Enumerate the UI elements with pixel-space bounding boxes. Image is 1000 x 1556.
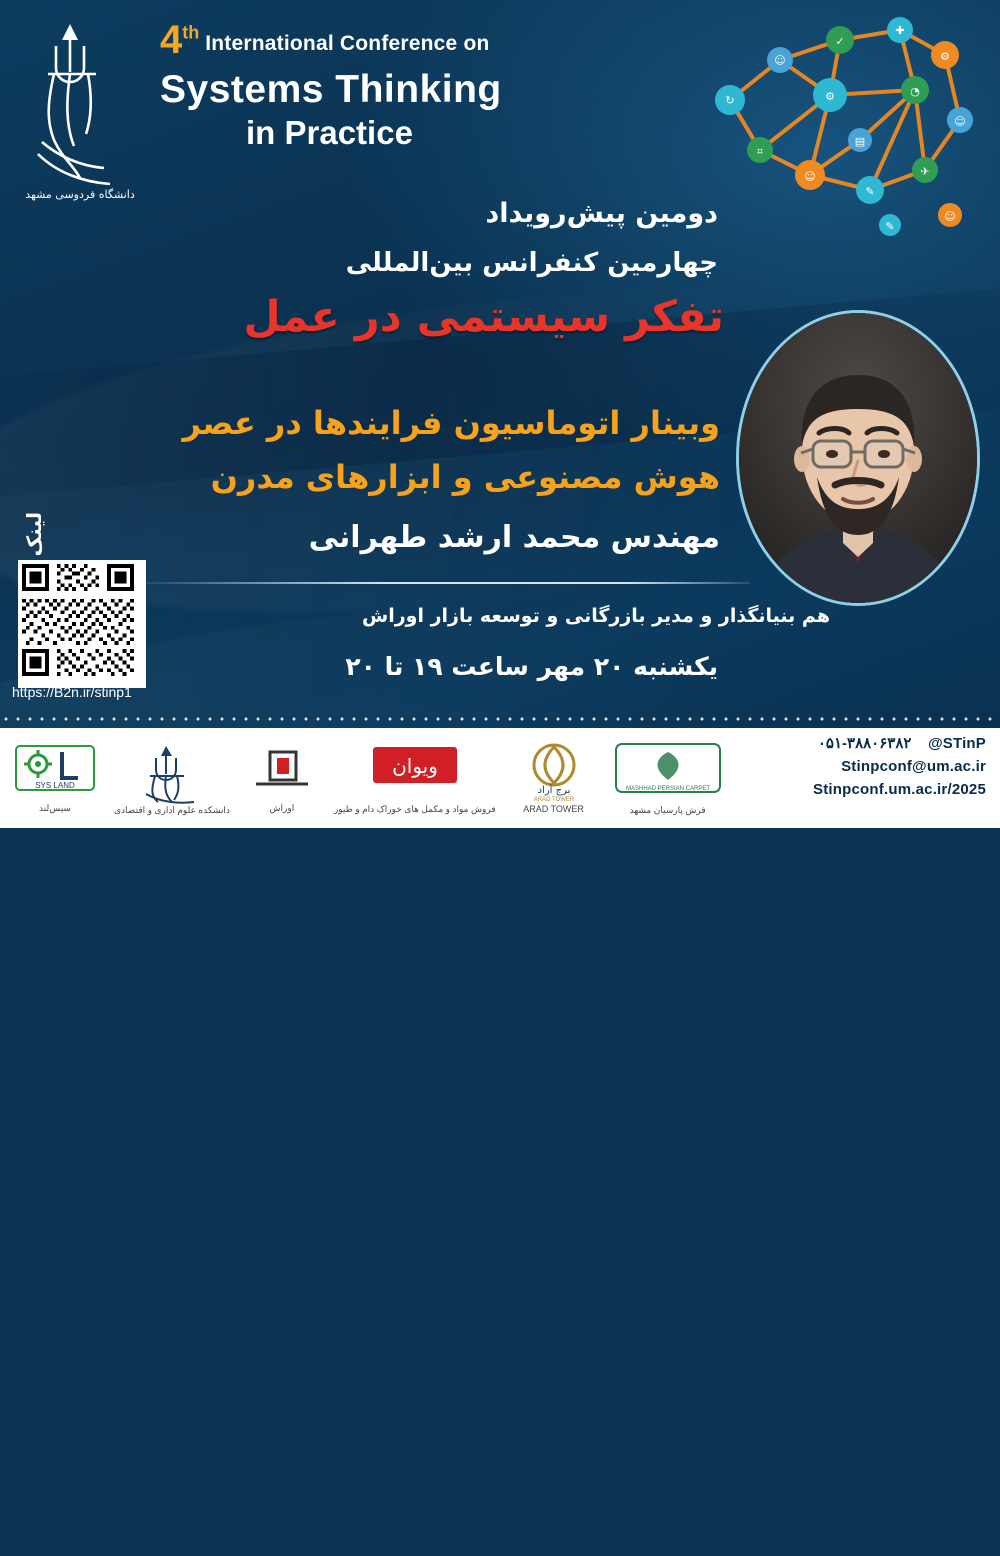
conference-english-heading: 4th International Conference on Systems … [160, 22, 580, 152]
sponsor-name: دانشکده علوم اداری و اقتصادی [114, 806, 230, 816]
sponsor-logo-arad-tower: برج آراد ARAD TOWER ARAD TOWER [512, 734, 596, 822]
svg-text:⚙: ⚙ [825, 90, 835, 103]
dotted-divider [0, 716, 1000, 722]
contact-website[interactable]: Stinpconf.um.ac.ir/2025 [813, 781, 986, 798]
svg-text:☺: ☺ [954, 115, 965, 128]
sponsor-logo-sysland: SYS LAND سیس‌لند [12, 734, 98, 822]
registration-qr-code[interactable] [18, 560, 146, 688]
contact-email[interactable]: Stinpconf@um.ac.ir [813, 758, 986, 775]
conference-title-line1: Systems Thinking [160, 68, 580, 112]
svg-text:ARAD TOWER: ARAD TOWER [533, 797, 574, 803]
svg-text:دانشگاه فردوسی مشهد: دانشگاه فردوسی مشهد [25, 188, 135, 201]
contact-social[interactable]: @STinP [928, 735, 986, 752]
conference-persian-line: چهارمین کنفرانس بین‌المللی [346, 248, 718, 278]
sponsor-logo-oraash: اوراش [246, 734, 318, 822]
sponsor-name: فروش مواد و مکمل های خوراک دام و طیور [334, 805, 496, 815]
svg-text:✎: ✎ [865, 185, 874, 198]
svg-text:↻: ↻ [725, 94, 734, 107]
divider [140, 582, 750, 584]
sponsor-name: اوراش [270, 804, 295, 814]
svg-text:⚙: ⚙ [940, 50, 950, 63]
sponsor-name: فرش پارسیان مشهد [630, 806, 706, 816]
svg-text:☺: ☺ [804, 170, 815, 183]
conference-persian-title: تفکر سیستمی در عمل [243, 292, 724, 342]
svg-text:SYS LAND: SYS LAND [35, 781, 75, 790]
conference-poster: دانشگاه فردوسی مشهد 4th International Co… [0, 0, 1000, 828]
svg-text:✎: ✎ [885, 220, 894, 233]
contact-line-phone-social: ۰۵۱-۳۸۸۰۶۳۸۲ @STinP [813, 734, 986, 752]
ordinal-suffix: th [182, 23, 199, 43]
sponsor-logo-mashhad-persian-carpet: MASHHAD PERSIAN CARPET فرش پارسیان مشهد [612, 734, 724, 822]
ferdowsi-university-of-mashhad-logo: دانشگاه فردوسی مشهد [18, 16, 148, 196]
pre-event-label: دومین پیش‌رویداد [485, 198, 718, 229]
svg-text:☺: ☺ [774, 54, 785, 67]
svg-text:▤: ▤ [855, 135, 865, 148]
sponsor-logos: SYS LAND سیس‌لند [0, 728, 724, 828]
conference-title-line2: in Practice [246, 114, 580, 152]
sponsor-logo-vivan: ویوان فروش مواد و مکمل های خوراک دام و ط… [334, 734, 496, 822]
contact-phone: ۰۵۱-۳۸۸۰۶۳۸۲ [818, 735, 912, 752]
svg-text:◔: ◔ [910, 85, 920, 98]
event-datetime: یکشنبه ۲۰ مهر ساعت ۱۹ تا ۲۰ [345, 652, 718, 681]
decorative-mesh [636, 1456, 826, 1556]
speaker-name: مهندس محمد ارشد طهرانی [309, 520, 720, 555]
sponsor-logo-ferdowsi: دانشکده علوم اداری و اقتصادی [114, 734, 230, 822]
svg-text:☺: ☺ [944, 210, 955, 223]
international-conference-line: International Conference on [205, 32, 489, 58]
sponsor-name: سیس‌لند [39, 804, 71, 814]
webinar-title-line2: هوش مصنوعی و ابزارهای مدرن [211, 458, 720, 496]
svg-text:✚: ✚ [895, 24, 904, 37]
contact-block: ۰۵۱-۳۸۸۰۶۳۸۲ @STinP Stinpconf@um.ac.ir S… [813, 734, 986, 804]
svg-text:✈: ✈ [920, 165, 929, 178]
svg-text:✓: ✓ [835, 35, 844, 48]
svg-text:⌗: ⌗ [757, 145, 763, 158]
svg-text:MASHHAD PERSIAN CARPET: MASHHAD PERSIAN CARPET [626, 786, 710, 792]
sponsor-name: ARAD TOWER [523, 805, 584, 815]
svg-text:برج آراد: برج آراد [537, 783, 570, 796]
svg-text:ویوان: ویوان [392, 754, 438, 778]
webinar-title-line1: وبینار اتوماسیون فرایندها در عصر [182, 404, 720, 442]
systems-network-graphic: ↻ ☺ ✓ ✚ ⚙ ⚙ ◔ ☺ ⌗ ☺ ✎ ✈ ▤ ☺ ✎ [690, 0, 990, 250]
registration-url[interactable]: https://B2n.ir/stinp1 [12, 684, 132, 700]
speaker-photo [736, 310, 980, 606]
speaker-role: هم بنیانگذار و مدیر بازرگانی و توسعه باز… [362, 605, 830, 627]
footer-bar: SYS LAND سیس‌لند [0, 728, 1000, 828]
ordinal-number: 4th [160, 22, 199, 58]
